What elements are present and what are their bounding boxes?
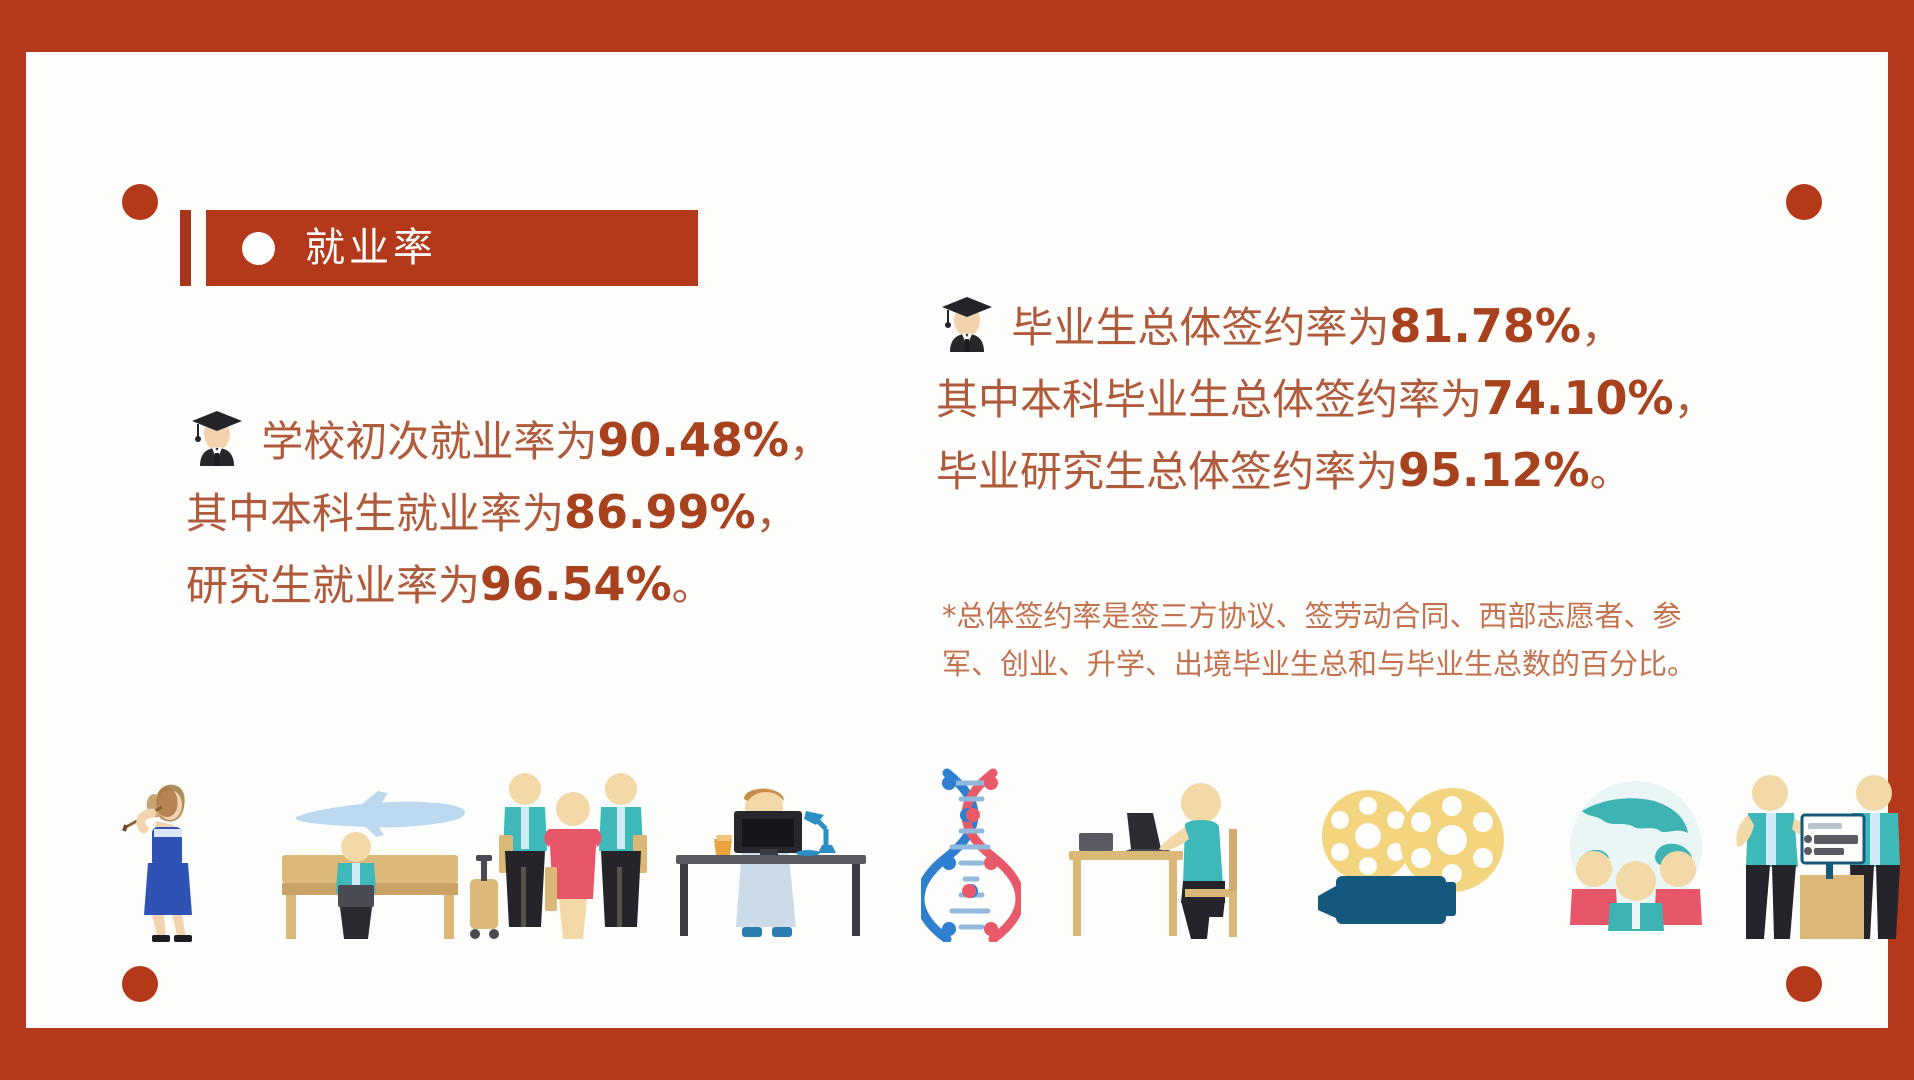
violinist-icon bbox=[96, 767, 226, 942]
globe-people-icon bbox=[1546, 769, 1726, 934]
outer-border-frame: 就业率 学校初次就业率为90.48% bbox=[0, 0, 1914, 1080]
footnote-text: *总体签约率是签三方协议、签劳动合同、西部志愿者、参军、创业、升学、出境毕业生总… bbox=[942, 592, 1702, 688]
signing-line-2-value: 74.10% bbox=[1482, 371, 1674, 425]
signing-rate-line-2: 其中本科毕业生总体签约率为74.10%， bbox=[936, 363, 1716, 435]
corner-dot-top-right bbox=[1786, 184, 1822, 220]
signing-line-1-value: 81.78% bbox=[1389, 299, 1581, 353]
film-camera-icon bbox=[1306, 782, 1526, 932]
circle-icon bbox=[242, 232, 275, 265]
signing-rate-line-3: 毕业研究生总体签约率为95.12%。 bbox=[936, 435, 1716, 507]
employment-line-3-prefix: 研究生就业率为 bbox=[186, 561, 480, 610]
signing-line-3-suffix: 。 bbox=[1590, 447, 1632, 496]
employment-line-2-suffix: ， bbox=[756, 489, 798, 538]
employment-rate-line-1: 学校初次就业率为90.48%， bbox=[186, 404, 831, 477]
signing-line-3-prefix: 毕业研究生总体签约率为 bbox=[936, 447, 1398, 496]
three-people-icon bbox=[491, 767, 656, 942]
corner-dot-top-left bbox=[122, 184, 158, 220]
corner-dot-bottom-left bbox=[122, 966, 158, 1002]
employment-line-1-suffix: ， bbox=[789, 417, 831, 466]
employment-line-1-prefix: 学校初次就业率为 bbox=[261, 417, 597, 466]
graduate-avatar-icon bbox=[936, 290, 998, 358]
bench-airplane-icon bbox=[256, 767, 506, 942]
employment-line-3-suffix: 。 bbox=[672, 561, 714, 610]
signing-line-2-suffix: ， bbox=[1674, 375, 1716, 424]
employment-line-3-value: 96.54% bbox=[480, 557, 672, 611]
employment-rate-block: 学校初次就业率为90.48%， 其中本科生就业率为86.99%， 研究生就业率为… bbox=[186, 404, 831, 621]
signing-rate-line-1: 毕业生总体签约率为81.78%， bbox=[936, 290, 1716, 363]
signing-line-1-suffix: ， bbox=[1581, 303, 1623, 352]
signing-line-2-prefix: 其中本科毕业生总体签约率为 bbox=[936, 375, 1482, 424]
corner-dot-bottom-right bbox=[1786, 966, 1822, 1002]
signing-rate-block: 毕业生总体签约率为81.78%， 其中本科毕业生总体签约率为74.10%， 毕业… bbox=[936, 290, 1716, 507]
person-laptop-icon bbox=[1061, 767, 1271, 942]
employment-line-2-prefix: 其中本科生就业率为 bbox=[186, 489, 564, 538]
page-title: 就业率 bbox=[305, 228, 437, 268]
dna-helix-icon bbox=[921, 767, 1021, 942]
banner-accent-bar bbox=[180, 210, 191, 286]
signing-line-3-value: 95.12% bbox=[1398, 443, 1590, 497]
graduate-avatar-icon bbox=[186, 404, 248, 472]
illustration-strip bbox=[66, 742, 1866, 942]
signing-line-1-prefix: 毕业生总体签约率为 bbox=[1011, 303, 1389, 352]
employment-line-2-value: 86.99% bbox=[564, 485, 756, 539]
desk-computer-icon bbox=[656, 767, 886, 942]
content-card: 就业率 学校初次就业率为90.48% bbox=[26, 52, 1888, 1028]
employment-rate-line-3: 研究生就业率为96.54%。 bbox=[186, 549, 831, 621]
employment-rate-line-2: 其中本科生就业率为86.99%， bbox=[186, 477, 831, 549]
section-title-banner: 就业率 bbox=[206, 210, 698, 286]
presentation-icon bbox=[1726, 767, 1906, 942]
employment-line-1-value: 90.48% bbox=[597, 413, 789, 467]
